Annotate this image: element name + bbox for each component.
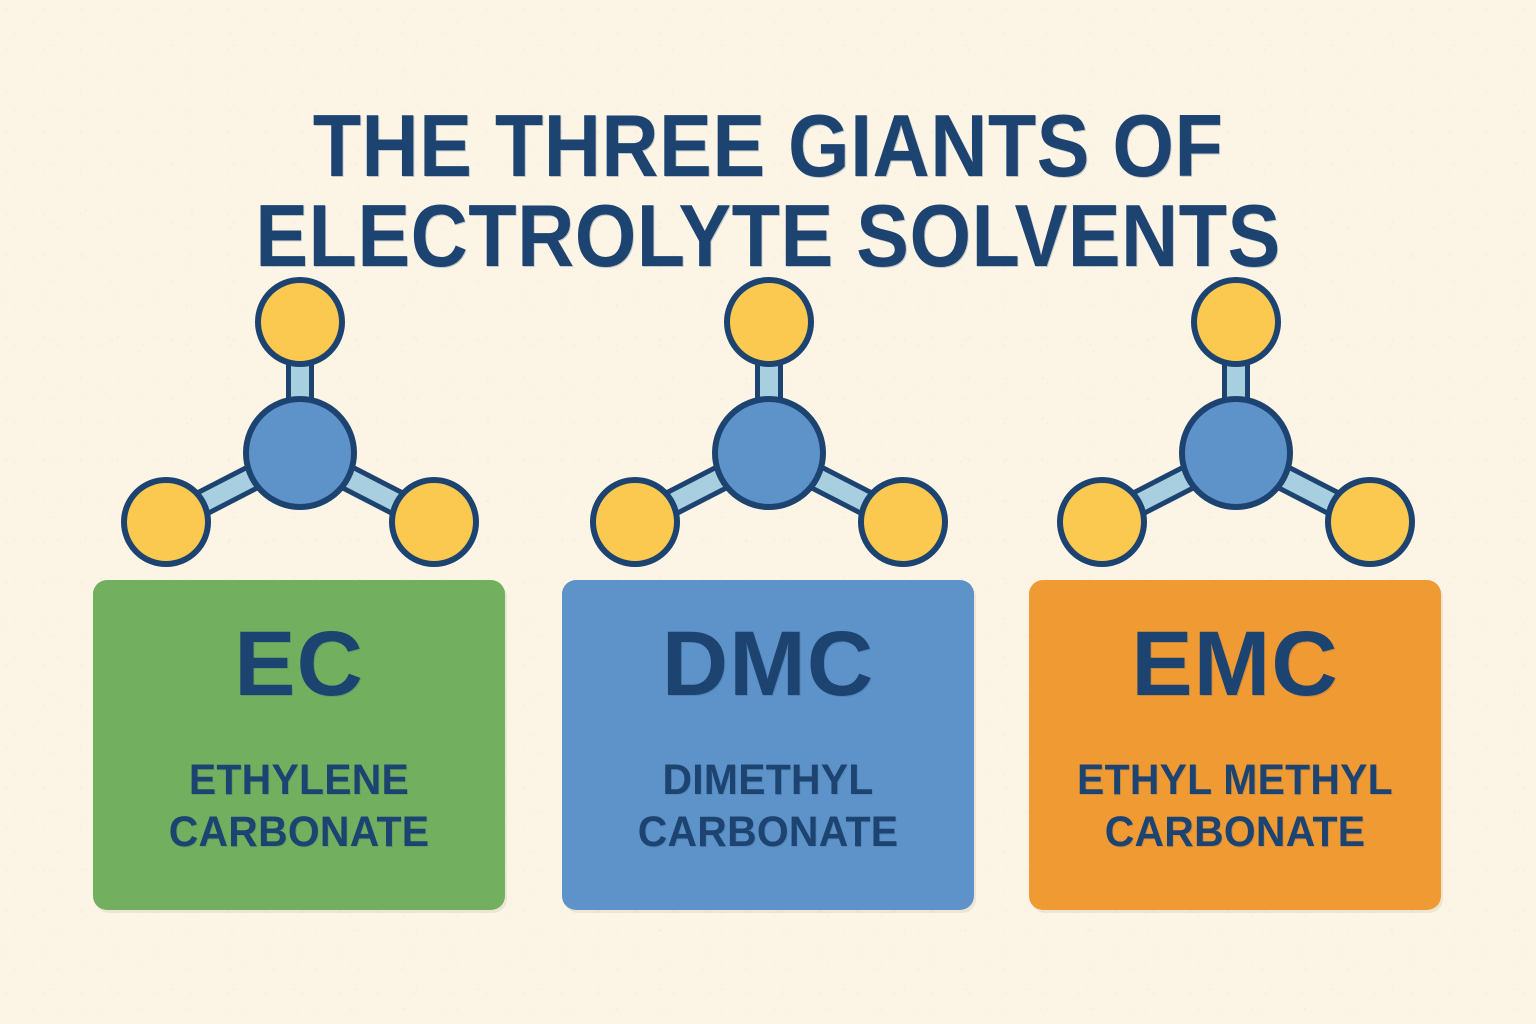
molecule-diagram-dmc (562, 262, 976, 580)
atom-top (258, 280, 342, 364)
atom-bottom-right (392, 480, 476, 564)
solvent-column-emc: EMC ETHYL METHYL CARBONATE (1029, 262, 1443, 910)
solvent-full-name: DIMETHYL CARBONATE (586, 754, 951, 859)
atom-bottom-left (1060, 480, 1144, 564)
solvent-name-line-2: CARBONATE (1053, 806, 1418, 858)
solvent-full-name: ETHYLENE CARBONATE (117, 754, 482, 859)
solvent-column-dmc: DMC DIMETHYL CARBONATE (562, 262, 976, 910)
atom-center (715, 399, 823, 507)
atom-top (1194, 280, 1278, 364)
solvent-abbreviation: EC (107, 618, 491, 710)
infographic-poster: THE THREE GIANTS OF ELECTROLYTE SOLVENTS (0, 0, 1536, 1024)
solvent-name-line-2: CARBONATE (117, 806, 482, 858)
atom-center (246, 399, 354, 507)
solvent-name-line-1: ETHYL METHYL (1053, 754, 1418, 806)
title-line-1: THE THREE GIANTS OF (77, 101, 1459, 191)
atom-bottom-right (861, 480, 945, 564)
solvent-name-line-1: DIMETHYL (586, 754, 951, 806)
molecule-icon (562, 262, 976, 580)
atom-center (1182, 399, 1290, 507)
molecule-diagram-ec (93, 262, 507, 580)
atom-bottom-right (1328, 480, 1412, 564)
solvent-card-ec[interactable]: EC ETHYLENE CARBONATE (93, 580, 505, 910)
molecule-icon (93, 262, 507, 580)
molecule-diagram-emc (1029, 262, 1443, 580)
atom-top (727, 280, 811, 364)
solvent-name-line-1: ETHYLENE (117, 754, 482, 806)
molecule-icon (1029, 262, 1443, 580)
solvent-abbreviation: EMC (1043, 618, 1427, 710)
solvent-abbreviation: DMC (576, 618, 960, 710)
atom-bottom-left (124, 480, 208, 564)
solvent-full-name: ETHYL METHYL CARBONATE (1053, 754, 1418, 859)
solvent-card-emc[interactable]: EMC ETHYL METHYL CARBONATE (1029, 580, 1441, 910)
solvent-name-line-2: CARBONATE (586, 806, 951, 858)
solvent-card-dmc[interactable]: DMC DIMETHYL CARBONATE (562, 580, 974, 910)
page-title: THE THREE GIANTS OF ELECTROLYTE SOLVENTS (77, 101, 1459, 281)
solvent-column-ec: EC ETHYLENE CARBONATE (93, 262, 507, 910)
atom-bottom-left (593, 480, 677, 564)
